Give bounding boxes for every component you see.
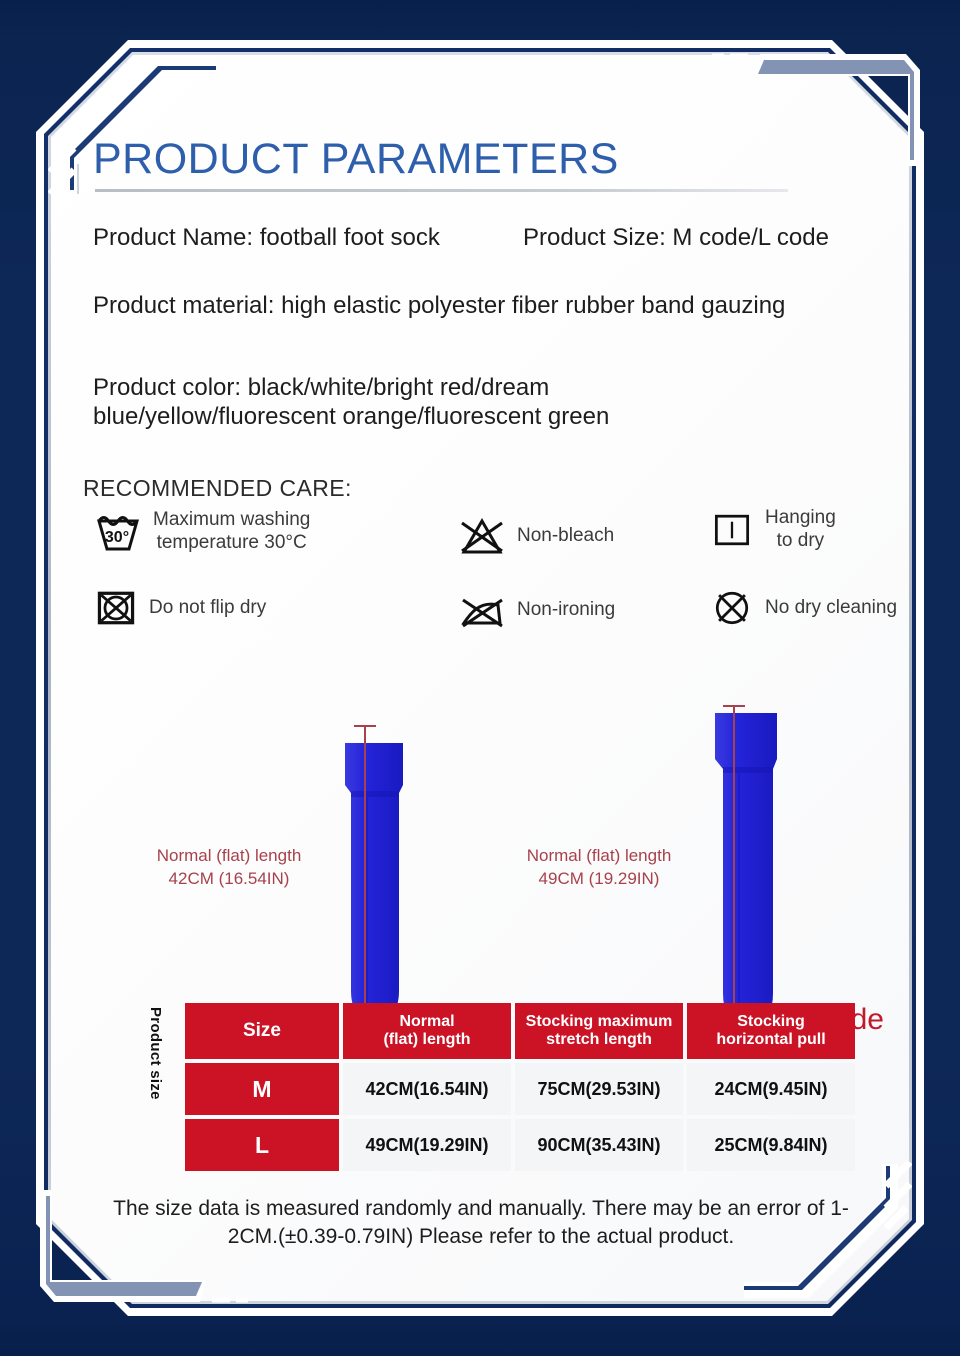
wash-30-icon: 30°: [93, 507, 143, 557]
table-header-horizontal-pull: Stocking horizontal pull: [687, 1003, 855, 1059]
dimension-cap-top-l: [723, 705, 745, 707]
dimension-cap-top-m: [354, 725, 376, 727]
care-label: Maximum washing temperature 30°C: [153, 509, 310, 555]
cell-size-l: L: [185, 1119, 339, 1171]
care-label: Do not flip dry: [149, 597, 266, 620]
sock-illustration-m: [329, 741, 415, 1025]
care-heading: RECOMMENDED CARE:: [83, 475, 352, 502]
page-title: PRODUCT PARAMETERS: [93, 135, 619, 184]
cell-horizontal-pull-l: 25CM(9.84IN): [687, 1119, 855, 1171]
table-header-max-stretch: Stocking maximum stretch length: [515, 1003, 683, 1059]
care-label: Hanging to dry: [765, 507, 836, 553]
table-header-size: Size: [185, 1003, 339, 1059]
sock-illustration-l: [699, 711, 789, 1029]
care-label: No dry cleaning: [765, 597, 897, 620]
table-header-row: Size Normal (flat) length Stocking maxim…: [185, 1003, 855, 1059]
spec-product-material: Product material: high elastic polyester…: [93, 291, 793, 320]
title-underline: [95, 189, 788, 192]
table-header-normal-length: Normal (flat) length: [343, 1003, 511, 1059]
cell-size-m: M: [185, 1063, 339, 1115]
cell-normal-length-l: 49CM(19.29IN): [343, 1119, 511, 1171]
care-label: Non-ironing: [517, 599, 615, 622]
care-item-no-bleach: Non-bleach: [457, 511, 614, 561]
size-table-wrapper: Size Normal (flat) length Stocking maxim…: [181, 999, 859, 1175]
no-tumble-dry-icon: [93, 585, 139, 631]
cell-max-stretch-l: 90CM(35.43IN): [515, 1119, 683, 1171]
no-dry-clean-icon: [709, 585, 755, 631]
table-axis-label: Product size: [147, 1007, 164, 1100]
cell-max-stretch-m: 75CM(29.53IN): [515, 1063, 683, 1115]
product-parameters-page: PRODUCT PARAMETERS Product Name: footbal…: [0, 0, 960, 1356]
care-item-no-dry-cleaning: No dry cleaning: [709, 585, 897, 631]
care-item-no-tumble-dry: Do not flip dry: [93, 585, 266, 631]
dimension-line-m: [364, 725, 366, 1023]
care-item-no-ironing: Non-ironing: [457, 585, 615, 635]
spec-product-size: Product Size: M code/L code: [523, 223, 829, 252]
spec-product-name: Product Name: football foot sock: [93, 223, 440, 252]
table-row: M 42CM(16.54IN) 75CM(29.53IN) 24CM(9.45I…: [185, 1063, 855, 1115]
size-table: Size Normal (flat) length Stocking maxim…: [181, 999, 859, 1175]
cell-normal-length-m: 42CM(16.54IN): [343, 1063, 511, 1115]
care-item-hanging-to-dry: Hanging to dry: [709, 507, 836, 553]
table-row: L 49CM(19.29IN) 90CM(35.43IN) 25CM(9.84I…: [185, 1119, 855, 1171]
hang-to-dry-icon: [709, 507, 755, 553]
no-bleach-icon: [457, 511, 507, 561]
spec-product-color: Product color: black/white/bright red/dr…: [93, 373, 793, 432]
dimension-line-l: [733, 705, 735, 1027]
size-disclaimer: The size data is measured randomly and m…: [91, 1195, 871, 1252]
dimension-label-m: Normal (flat) length 42CM (16.54IN): [119, 845, 339, 891]
dimension-label-l: Normal (flat) length 49CM (19.29IN): [489, 845, 709, 891]
svg-text:30°: 30°: [105, 529, 129, 546]
cell-horizontal-pull-m: 24CM(9.45IN): [687, 1063, 855, 1115]
sock-diagrams: Normal (flat) length 42CM (16.54IN) M co…: [51, 645, 909, 995]
no-iron-icon: [457, 585, 507, 635]
care-label: Non-bleach: [517, 525, 614, 548]
care-item-max-wash-temp: 30° Maximum washing temperature 30°C: [93, 507, 310, 557]
